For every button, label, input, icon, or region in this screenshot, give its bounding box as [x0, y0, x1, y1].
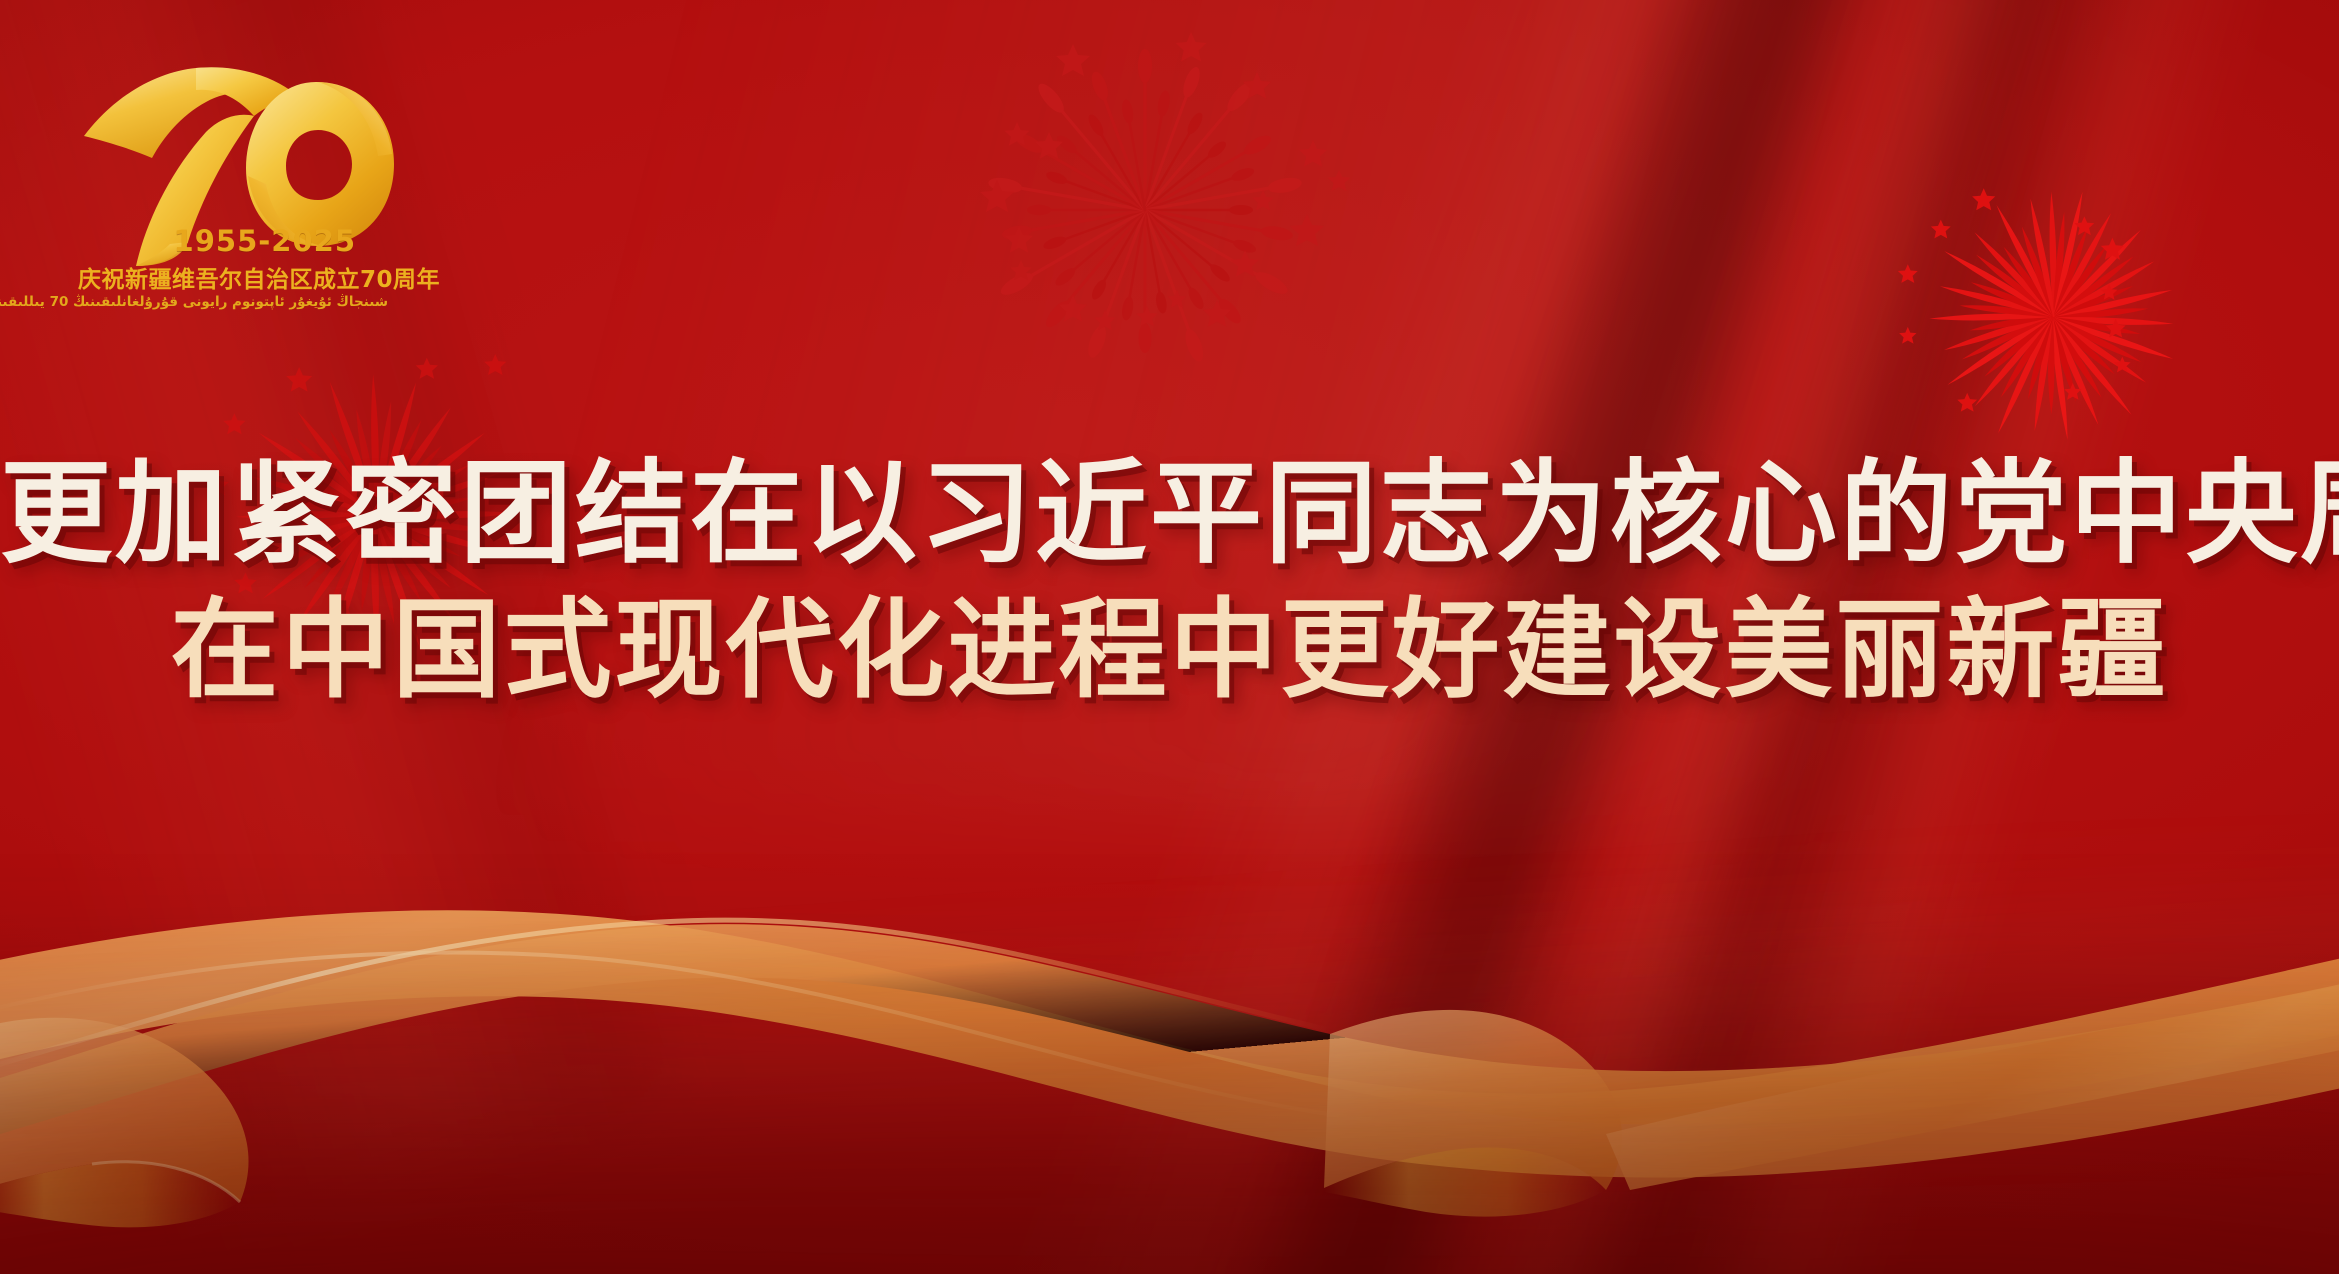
emblem-years-label: 1955-2025: [174, 224, 356, 258]
banner-canvas: 1955-2025 庆祝新疆维吾尔自治区成立70周年 شىنجاڭ ئۇيغۇر…: [0, 0, 2339, 1274]
headline-block: 更加紧密团结在以习近平同志为核心的党中央周围 在中国式现代化进程中更好建设美丽新…: [0, 452, 2339, 713]
headline-line-2: 在中国式现代化进程中更好建设美丽新疆: [0, 591, 2339, 713]
headline-line-1: 更加紧密团结在以习近平同志为核心的党中央周围: [0, 452, 2339, 579]
anniversary-emblem: 1955-2025 庆祝新疆维吾尔自治区成立70周年 شىنجاڭ ئۇيغۇر…: [78, 46, 438, 271]
bottom-drape-shadow: [0, 864, 2339, 1274]
emblem-slogan-chinese: 庆祝新疆维吾尔自治区成立70周年: [78, 260, 378, 294]
emblem-slogan-uyghur: شىنجاڭ ئۇيغۇر ئاپتونوم رايونى قۇرۇلغانلى…: [72, 294, 388, 310]
